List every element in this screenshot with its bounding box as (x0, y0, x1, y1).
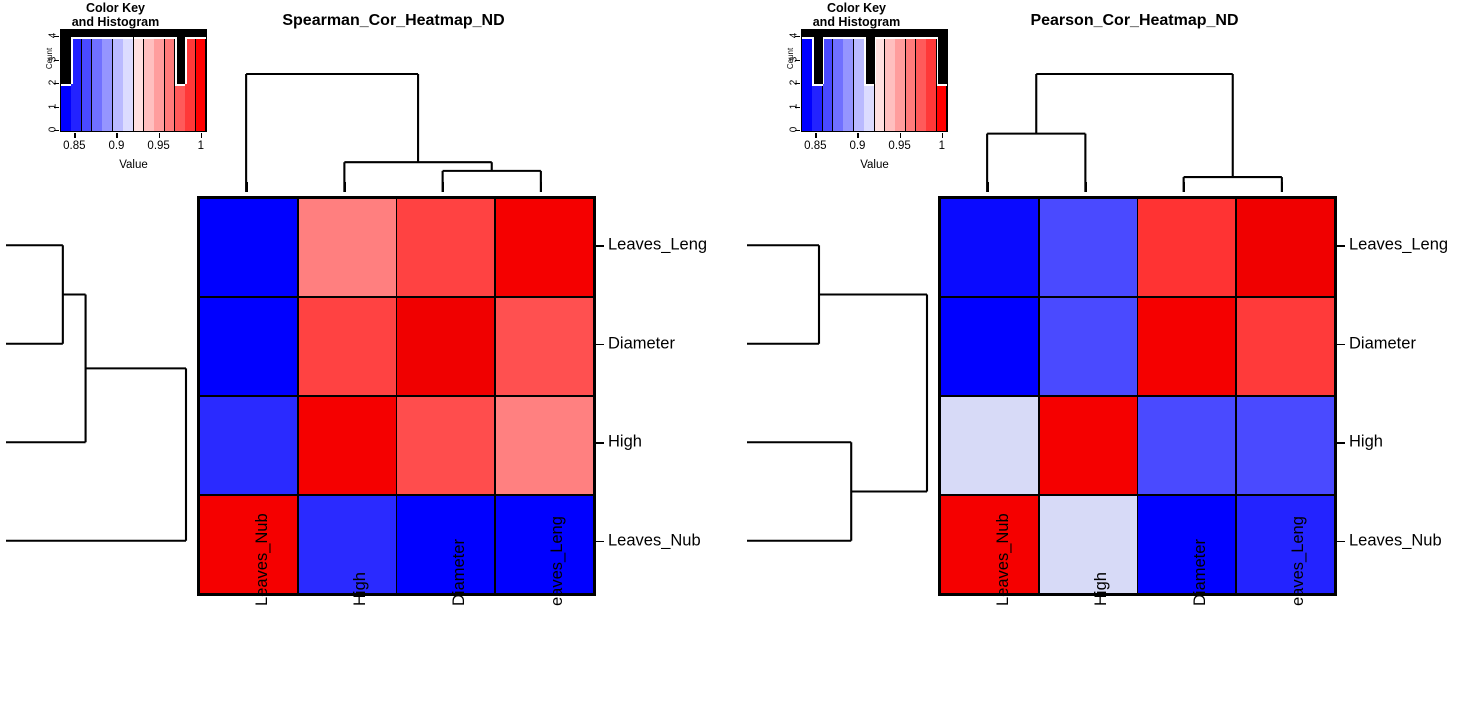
row-tick-mark (594, 245, 604, 247)
histogram-outline (843, 37, 853, 39)
heatmap-cell (1138, 496, 1235, 593)
color-key-bar (154, 37, 164, 131)
col-label: eaves_Leng (1289, 516, 1308, 606)
color-key-bar (123, 37, 133, 131)
histogram-outline (812, 37, 814, 84)
row-tick-mark (1335, 245, 1345, 247)
histogram-outline (906, 37, 916, 39)
color-key-plot (801, 29, 948, 132)
color-key-title-line2: and Histogram (18, 16, 213, 30)
histogram-outline (175, 37, 177, 84)
histogram-outline (196, 37, 206, 39)
heatmap-cell (299, 199, 396, 296)
color-key-ytick-mark (795, 60, 800, 61)
heatmap-cell (1237, 496, 1334, 593)
heatmap-cell (1040, 397, 1137, 494)
heatmap-cell (1040, 496, 1137, 593)
heatmap-cell (1138, 397, 1235, 494)
color-key-xtick-mark (857, 133, 858, 138)
row-label: Leaves_Nub (1349, 531, 1442, 550)
color-key-title: Color Keyand Histogram (18, 2, 213, 29)
color-key-ytick-mark (795, 130, 800, 131)
histogram-outline (854, 37, 864, 39)
col-label: eaves_Leng (548, 516, 567, 606)
color-key-ytick-mark (795, 36, 800, 37)
heatmap-cell (397, 199, 494, 296)
color-key-title-line2: and Histogram (759, 16, 954, 30)
color-key-xtick: 0.85 (54, 140, 94, 152)
col-tick-mark (443, 182, 445, 192)
row-tick-mark (594, 344, 604, 346)
color-key-spearman: Color Keyand HistogramCount012340.850.90… (18, 2, 213, 177)
color-key-ytick-mark (54, 107, 59, 108)
color-key-pearson: Color Keyand HistogramCount012340.850.90… (759, 2, 954, 177)
color-key-xtick: 0.9 (96, 140, 136, 152)
color-key-bar (854, 37, 864, 131)
color-key-xtick-mark (900, 133, 901, 138)
heatmap-cell (941, 397, 1038, 494)
color-key-xtick-mark (116, 133, 117, 138)
color-key-bar (833, 37, 843, 131)
histogram-outline (895, 37, 905, 39)
col-tick-mark (344, 182, 346, 192)
col-tick-mark (541, 182, 543, 192)
histogram-outline (92, 37, 102, 39)
col-label: Leaves_Nub (994, 513, 1013, 606)
color-key-bar (895, 37, 905, 131)
histogram-outline (885, 37, 895, 39)
color-key-bar (165, 37, 175, 131)
heatmap-cell (496, 298, 593, 395)
heatmap-cell (941, 298, 1038, 395)
histogram-outline (916, 37, 926, 39)
color-key-ytick-mark (54, 130, 59, 131)
color-key-xlabel: Value (801, 159, 948, 171)
color-key-bar (92, 37, 102, 131)
color-key-title-line1: Color Key (759, 2, 954, 16)
row-label: Leaves_Nub (608, 531, 701, 550)
color-key-bar (175, 84, 185, 131)
color-key-bar (113, 37, 123, 131)
histogram-outline (61, 84, 71, 86)
col-label: Leaves_Nub (253, 513, 272, 606)
row-tick-mark (1335, 442, 1345, 444)
color-key-xtick: 0.85 (795, 140, 835, 152)
col-label: Diameter (1191, 539, 1210, 606)
heatmap-cell (299, 298, 396, 395)
row-label: High (1349, 433, 1383, 452)
color-key-ytick-mark (54, 83, 59, 84)
histogram-outline (875, 37, 877, 84)
color-key-xtick-mark (159, 133, 160, 138)
histogram-outline (812, 84, 822, 86)
histogram-outline (175, 84, 185, 86)
col-tick-mark (1184, 182, 1186, 192)
color-key-title: Color Keyand Histogram (759, 2, 954, 29)
histogram-outline (926, 37, 936, 39)
col-tick-mark (246, 182, 248, 192)
heatmap-cell (1237, 298, 1334, 395)
heatmap-cell (496, 199, 593, 296)
histogram-outline (71, 37, 73, 84)
color-key-bar (926, 37, 936, 131)
histogram-outline (823, 37, 825, 84)
row-label: Leaves_Leng (1349, 236, 1448, 255)
histogram-outline (123, 37, 133, 39)
heatmap-cell (200, 397, 297, 494)
histogram-outline (134, 37, 144, 39)
color-key-bar (864, 84, 874, 131)
color-key-bar (802, 37, 812, 131)
column-dendrogram (197, 68, 590, 192)
histogram-outline (102, 37, 112, 39)
heatmap-cell (1237, 199, 1334, 296)
heatmap-cell (941, 496, 1038, 593)
color-key-bar (102, 37, 112, 131)
color-key-xtick: 0.95 (880, 140, 920, 152)
color-key-bar (61, 84, 71, 131)
color-key-xtick-mark (815, 133, 816, 138)
color-key-bar (82, 37, 92, 131)
heatmap-cell (397, 397, 494, 494)
histogram-outline (864, 37, 866, 84)
heatmap-cell (496, 496, 593, 593)
column-dendrogram (938, 68, 1331, 192)
histogram-outline (833, 37, 843, 39)
color-key-xlabel: Value (60, 159, 207, 171)
col-tick-mark (1085, 182, 1087, 192)
row-dendrogram (747, 196, 933, 590)
color-key-xtick: 0.95 (139, 140, 179, 152)
color-key-xtick: 0.9 (837, 140, 877, 152)
heatmap-title: Spearman_Cor_Heatmap_ND (197, 12, 590, 30)
col-tick-mark (987, 182, 989, 192)
col-label: High (1092, 572, 1111, 606)
color-key-bar (812, 84, 822, 131)
color-key-bar (906, 37, 916, 131)
histogram-outline (185, 37, 187, 84)
heatmap-cell (1138, 199, 1235, 296)
color-key-title-line1: Color Key (18, 2, 213, 16)
histogram-outline (113, 37, 123, 39)
color-key-ytick-mark (795, 83, 800, 84)
color-key-ytick-mark (54, 36, 59, 37)
heatmap-cell (941, 199, 1038, 296)
row-label: Diameter (1349, 334, 1416, 353)
color-key-ytick-mark (795, 107, 800, 108)
row-label: High (608, 433, 642, 452)
row-dendrogram (6, 196, 192, 590)
heatmap-cell (1040, 298, 1137, 395)
heatmap-cell (1138, 298, 1235, 395)
color-key-bar (885, 37, 895, 131)
heatmap-cell (1040, 199, 1137, 296)
heatmap-cell (200, 199, 297, 296)
pearson-panel: Color Keyand HistogramCount012340.850.90… (741, 0, 1481, 727)
color-key-bar (843, 37, 853, 131)
col-tick-mark (1282, 182, 1284, 192)
heatmap-title: Pearson_Cor_Heatmap_ND (938, 12, 1331, 30)
histogram-outline (144, 37, 154, 39)
color-key-xtick-mark (74, 133, 75, 138)
row-tick-mark (594, 442, 604, 444)
col-label: High (351, 572, 370, 606)
row-tick-mark (594, 541, 604, 543)
row-label: Leaves_Leng (608, 236, 707, 255)
heatmap-cell (397, 496, 494, 593)
heatmap-cell (299, 397, 396, 494)
histogram-outline (864, 84, 874, 86)
heatmap-cell (397, 298, 494, 395)
heatmap-cell (200, 298, 297, 395)
color-key-bar (144, 37, 154, 131)
col-label: Diameter (450, 539, 469, 606)
histogram-outline (154, 37, 164, 39)
heatmap-cell (496, 397, 593, 494)
heatmap-cell (1237, 397, 1334, 494)
spearman-panel: Color Keyand HistogramCount012340.850.90… (0, 0, 740, 727)
histogram-outline (165, 37, 175, 39)
row-label: Diameter (608, 334, 675, 353)
heatmap-cell (299, 496, 396, 593)
heatmap-cell (200, 496, 297, 593)
histogram-outline (82, 37, 92, 39)
color-key-plot (60, 29, 207, 132)
color-key-bar (916, 37, 926, 131)
color-key-ytick-mark (54, 60, 59, 61)
histogram-outline (802, 37, 812, 39)
row-tick-mark (1335, 344, 1345, 346)
color-key-bar (134, 37, 144, 131)
row-tick-mark (1335, 541, 1345, 543)
